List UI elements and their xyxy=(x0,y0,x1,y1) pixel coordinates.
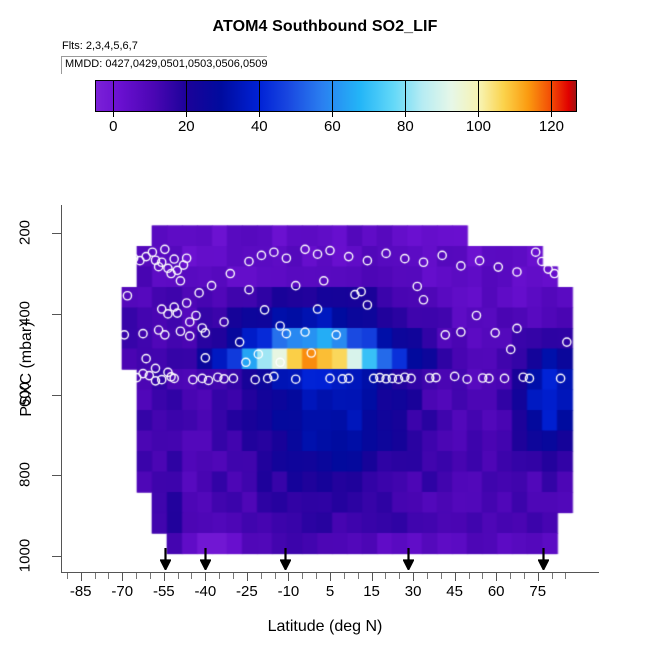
x-axis-minor-tick xyxy=(178,573,179,579)
colorbar-gradient xyxy=(96,81,576,111)
x-axis-tick-label: -85 xyxy=(70,583,92,600)
y-axis-title: PSXC (mbar) xyxy=(18,309,36,429)
x-axis-tick xyxy=(455,573,456,581)
x-axis-minor-tick xyxy=(524,573,525,579)
y-axis-tick-label: 800 xyxy=(17,452,34,498)
x-axis-minor-tick xyxy=(552,573,553,579)
x-axis-minor-tick xyxy=(275,573,276,579)
flight-marker-arrow xyxy=(538,548,549,570)
flight-marker-arrow xyxy=(200,548,211,570)
colorbar-tick xyxy=(259,80,260,112)
colorbar-tick-mark xyxy=(405,112,406,117)
x-axis-minor-tick xyxy=(261,573,262,579)
colorbar-tick-label: 60 xyxy=(324,118,341,135)
flight-marker-arrow xyxy=(403,548,414,570)
x-axis-tick xyxy=(205,573,206,581)
colorbar-tick xyxy=(332,80,333,112)
x-axis-tick xyxy=(538,573,539,581)
x-axis-tick xyxy=(81,573,82,581)
x-axis-minor-tick xyxy=(510,573,511,579)
x-axis-minor-tick xyxy=(95,573,96,579)
y-axis-tick xyxy=(52,314,61,315)
x-axis-minor-tick xyxy=(385,573,386,579)
x-axis-minor-tick xyxy=(108,573,109,579)
x-axis-tick xyxy=(122,573,123,581)
x-axis-minor-tick xyxy=(191,573,192,579)
x-axis-minor-tick xyxy=(67,573,68,579)
colorbar-tick-label: 100 xyxy=(466,118,491,135)
colorbar-tick xyxy=(186,80,187,112)
x-axis-minor-tick xyxy=(233,573,234,579)
x-axis-minor-tick xyxy=(399,573,400,579)
flight-marker-arrow xyxy=(280,548,291,570)
x-axis-minor-tick xyxy=(469,573,470,579)
x-axis-tick-label: -70 xyxy=(111,583,133,600)
x-axis-minor-tick xyxy=(219,573,220,579)
y-axis-tick xyxy=(52,556,61,557)
x-axis-minor-tick xyxy=(565,573,566,579)
colorbar-tick-label: 0 xyxy=(109,118,117,135)
x-axis-tick xyxy=(413,573,414,581)
y-axis-tick xyxy=(52,475,61,476)
x-axis-tick-label: 75 xyxy=(529,583,546,600)
x-axis-title: Latitude (deg N) xyxy=(0,618,650,636)
colorbar-tick-mark xyxy=(551,112,552,117)
x-axis-tick xyxy=(164,573,165,581)
x-axis-minor-tick xyxy=(316,573,317,579)
x-axis-minor-tick xyxy=(482,573,483,579)
colorbar xyxy=(95,80,577,112)
page-title: ATOM4 Southbound SO2_LIF xyxy=(0,18,650,36)
x-axis-tick-label: -10 xyxy=(278,583,300,600)
flight-marker-arrow xyxy=(160,548,171,570)
flights-label: Flts: 2,3,4,5,6,7 xyxy=(62,40,138,52)
colorbar-tick xyxy=(478,80,479,112)
colorbar-tick-label: 80 xyxy=(397,118,414,135)
y-axis-tick xyxy=(52,395,61,396)
colorbar-tick-mark xyxy=(113,112,114,117)
colorbar-tick-label: 20 xyxy=(178,118,195,135)
mmdd-label: MMDD: 0427,0429,0501,0503,0506,0509 xyxy=(65,58,267,70)
x-axis-tick-label: 30 xyxy=(405,583,422,600)
heatmap-canvas xyxy=(62,205,598,572)
x-axis-tick xyxy=(247,573,248,581)
x-axis-minor-tick xyxy=(344,573,345,579)
x-axis-tick-label: -25 xyxy=(236,583,258,600)
x-axis-tick xyxy=(288,573,289,581)
x-axis-tick-label: -55 xyxy=(153,583,175,600)
colorbar-tick-mark xyxy=(259,112,260,117)
colorbar-tick-label: 40 xyxy=(251,118,268,135)
heatmap-plot xyxy=(62,205,598,572)
chart-page: ATOM4 Southbound SO2_LIF Flts: 2,3,4,5,6… xyxy=(0,0,650,650)
y-axis-tick xyxy=(52,233,61,234)
x-axis-tick xyxy=(372,573,373,581)
x-axis-minor-tick xyxy=(358,573,359,579)
x-axis-tick-label: -40 xyxy=(195,583,217,600)
colorbar-tick xyxy=(113,80,114,112)
x-axis-tick-label: 60 xyxy=(488,583,505,600)
x-axis-tick-label: 45 xyxy=(446,583,463,600)
colorbar-tick-mark xyxy=(186,112,187,117)
colorbar-tick-mark xyxy=(478,112,479,117)
colorbar-tick-label: 120 xyxy=(539,118,564,135)
colorbar-tick xyxy=(551,80,552,112)
x-axis-minor-tick xyxy=(136,573,137,579)
y-axis-tick-label: 1000 xyxy=(17,532,34,578)
x-axis-tick xyxy=(496,573,497,581)
x-axis-minor-tick xyxy=(427,573,428,579)
x-axis-tick xyxy=(330,573,331,581)
colorbar-tick xyxy=(405,80,406,112)
colorbar-tick-mark xyxy=(332,112,333,117)
x-axis-minor-tick xyxy=(441,573,442,579)
x-axis-tick-label: 5 xyxy=(326,583,334,600)
x-axis-minor-tick xyxy=(150,573,151,579)
y-axis-tick-label: 200 xyxy=(17,210,34,256)
x-axis-tick-label: 15 xyxy=(363,583,380,600)
x-axis-minor-tick xyxy=(302,573,303,579)
